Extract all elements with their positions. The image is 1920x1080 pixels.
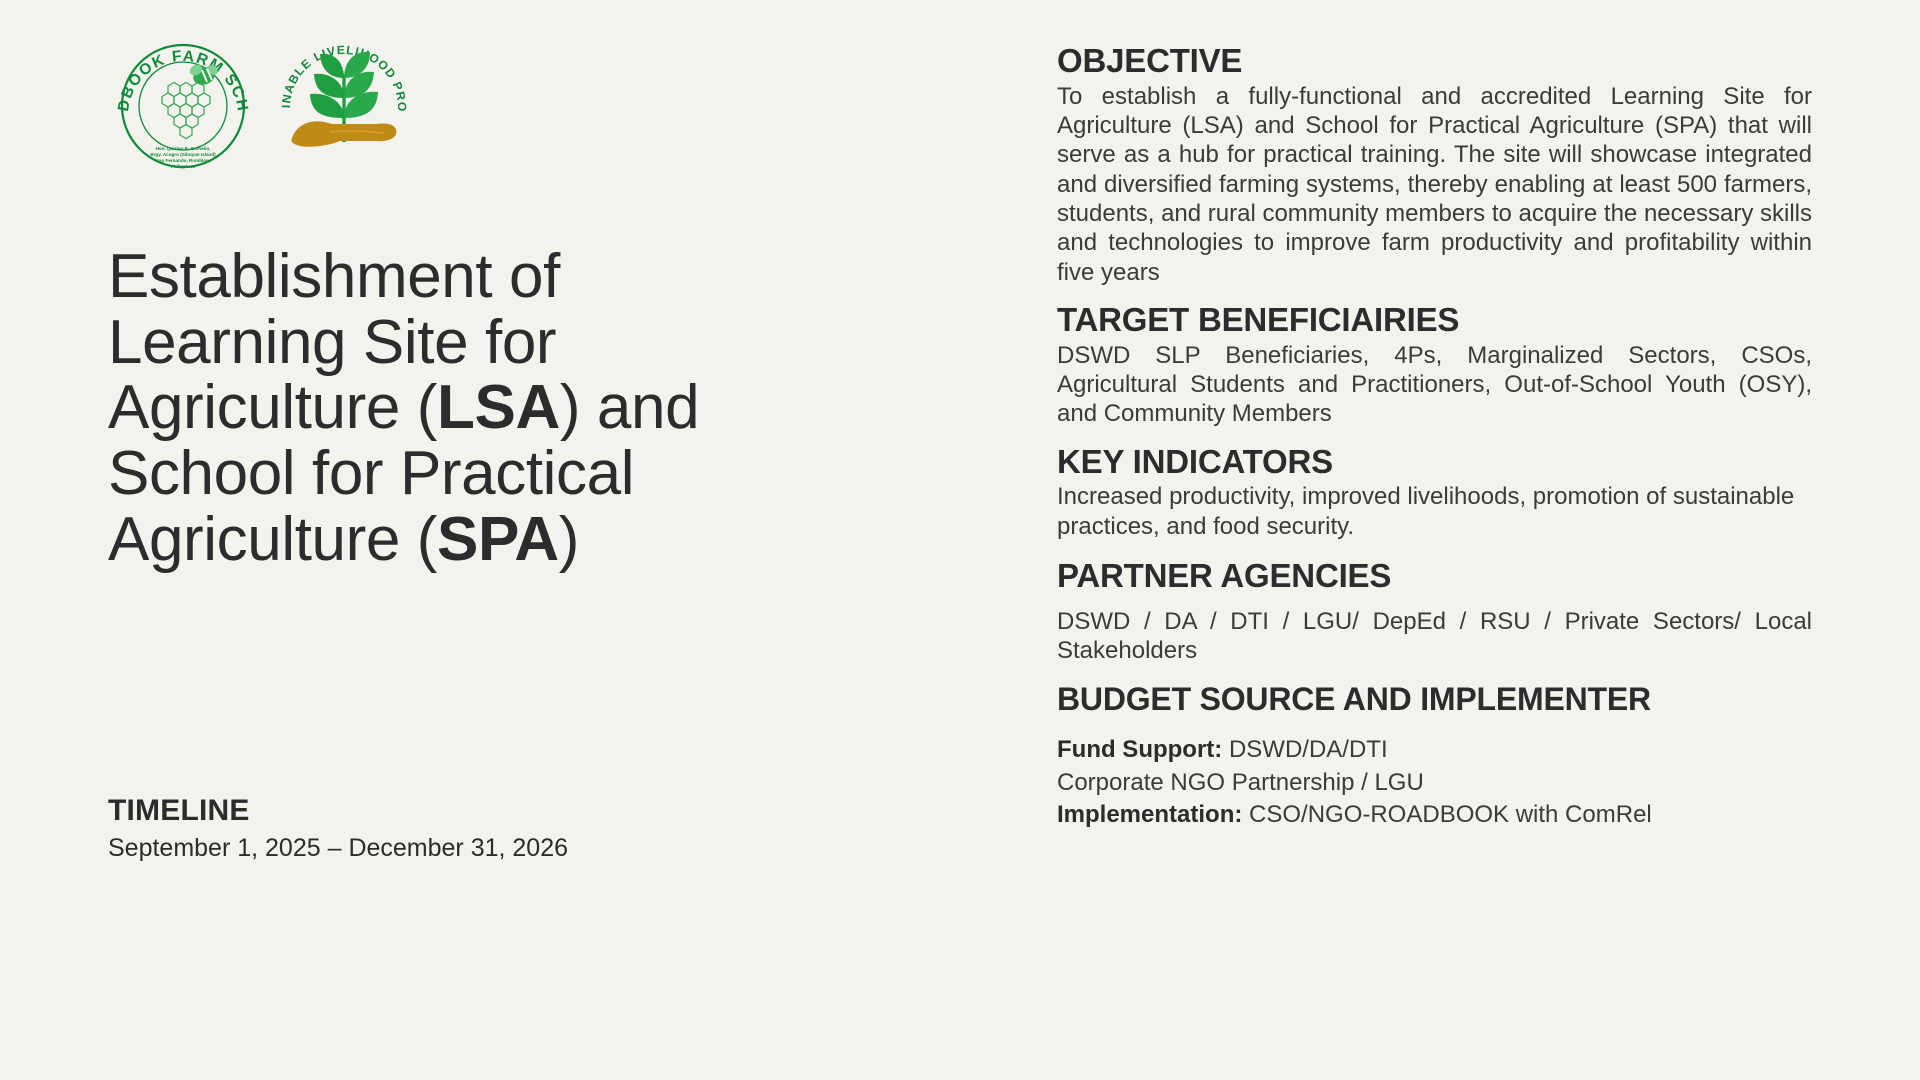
title-line-3-post: ) and — [560, 373, 699, 442]
title-line-5-post: ) — [559, 505, 579, 574]
title-acronym-spa: SPA — [437, 505, 559, 574]
implementation-label: Implementation: — [1057, 801, 1242, 828]
implementation-value: CSO/NGO-ROADBOOK with ComRel — [1249, 801, 1652, 828]
title-line-4: School for Practical — [108, 439, 634, 508]
budget-heading: BUDGET SOURCE AND IMPLEMENTER — [1057, 681, 1812, 718]
section-partner-agencies: PARTNER AGENCIES DSWD / DA / DTI / LGU/ … — [1057, 557, 1812, 665]
section-beneficiaries: TARGET BENEFICIAIRIES DSWD SLP Beneficia… — [1057, 301, 1812, 429]
sustainable-livelihood-program-logo: SUSTAINABLE LIVELIHOOD PROGRAM — [280, 34, 408, 167]
key-indicators-body: Increased productivity, improved livelih… — [1057, 482, 1812, 541]
right-column: OBJECTIVE To establish a fully-functiona… — [1057, 42, 1812, 843]
farm-school-caption-line-2: Brgy. Acogro (Sibuyan Island) — [150, 152, 216, 157]
fund-support-value: DSWD/DA/DTI — [1229, 736, 1388, 763]
section-key-indicators: KEY INDICATORS Increased productivity, i… — [1057, 443, 1812, 541]
timeline-block: TIMELINE September 1, 2025 – December 31… — [108, 794, 748, 863]
objective-body: To establish a fully-functional and accr… — [1057, 82, 1812, 287]
farm-school-caption-line-1: Hon. Quirino R. Cornelio, — [156, 146, 211, 151]
title-line-3-pre: Agriculture ( — [108, 373, 437, 442]
title-line-2: Learning Site for — [108, 308, 556, 377]
timeline-dates: September 1, 2025 – December 31, 2026 — [108, 834, 748, 863]
section-objective: OBJECTIVE To establish a fully-functiona… — [1057, 42, 1812, 287]
poster-canvas: ROADBOOK FARM SCHOOL — [0, 0, 1920, 1080]
title-acronym-lsa: LSA — [437, 373, 560, 442]
key-indicators-heading: KEY INDICATORS — [1057, 443, 1812, 481]
farm-school-caption-line-4: Philippines — [171, 164, 196, 169]
title-line-5-pre: Agriculture ( — [108, 505, 437, 574]
fund-support-label: Fund Support: — [1057, 736, 1222, 763]
partnership-line: Corporate NGO Partnership / LGU — [1057, 769, 1424, 796]
budget-body: Fund Support: DSWD/DA/DTI Corporate NGO … — [1057, 734, 1812, 831]
partner-agencies-body: DSWD / DA / DTI / LGU/ DepEd / RSU / Pri… — [1057, 607, 1812, 666]
partner-agencies-heading: PARTNER AGENCIES — [1057, 557, 1812, 595]
farm-school-caption-line-3: San Fernando, Romblon, — [156, 158, 210, 163]
page-title: Establishment of Learning Site for Agric… — [108, 244, 868, 573]
left-column: ROADBOOK FARM SCHOOL — [108, 34, 898, 1046]
section-budget: BUDGET SOURCE AND IMPLEMENTER Fund Suppo… — [1057, 681, 1812, 831]
objective-heading: OBJECTIVE — [1057, 42, 1812, 80]
timeline-heading: TIMELINE — [108, 794, 748, 828]
beneficiaries-heading: TARGET BENEFICIAIRIES — [1057, 301, 1812, 339]
roadbook-farm-school-logo: ROADBOOK FARM SCHOOL — [108, 34, 258, 179]
logo-row: ROADBOOK FARM SCHOOL — [108, 34, 898, 174]
beneficiaries-body: DSWD SLP Beneficiaries, 4Ps, Marginalize… — [1057, 341, 1812, 429]
title-line-1: Establishment of — [108, 242, 560, 311]
